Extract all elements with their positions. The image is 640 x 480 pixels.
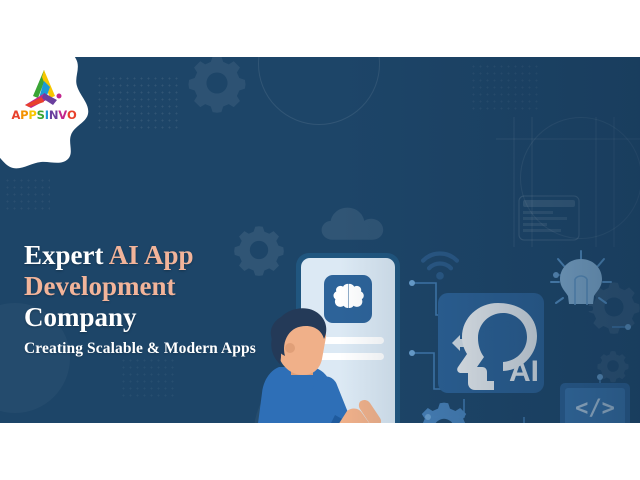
ai-app-development-banner: </> — [0, 57, 640, 423]
headline-line-1: Expert AI App — [24, 240, 294, 271]
brand-letter: N — [49, 110, 58, 122]
brand-letter: A — [11, 110, 20, 122]
laptop-code-glyph: </> — [575, 396, 615, 421]
dot-grid-top-right — [470, 63, 540, 113]
dot-grid-top-left — [96, 75, 182, 133]
headline-expert: Expert — [24, 240, 109, 270]
lightbulb-icon — [548, 249, 614, 327]
headline-line-2: Development — [24, 271, 294, 302]
cloud-icon — [316, 203, 400, 243]
brand-letter: O — [67, 110, 77, 122]
brand-letter: P — [20, 110, 28, 122]
wifi-icon — [418, 245, 462, 283]
dot-grid-left-mid — [4, 177, 50, 211]
laptop-code-icon: </> — [552, 379, 638, 423]
brand-logo[interactable]: APPSINVO — [8, 69, 80, 122]
brand-letter: P — [28, 110, 36, 122]
appsinvo-triangle-logo — [22, 69, 66, 109]
brand-letter: S — [37, 110, 45, 122]
brand-name: APPSINVO — [8, 110, 80, 122]
ai-head-label: AI — [509, 355, 539, 388]
ai-head-circuit-icon: AI — [436, 291, 546, 399]
headline-block: Expert AI App Development Company Creati… — [24, 240, 294, 359]
headline-subline: Creating Scalable & Modern Apps — [24, 339, 294, 359]
headline-line-3: Company — [24, 302, 294, 333]
soft-ring-top — [258, 57, 380, 125]
headline-ai-app: AI App — [109, 240, 194, 270]
gear-icon-top — [186, 57, 248, 114]
brand-letter: V — [58, 110, 67, 122]
banner-frame: </> — [0, 0, 640, 480]
code-window-icon — [518, 195, 580, 241]
dot-grid-bottom-left — [120, 357, 174, 397]
